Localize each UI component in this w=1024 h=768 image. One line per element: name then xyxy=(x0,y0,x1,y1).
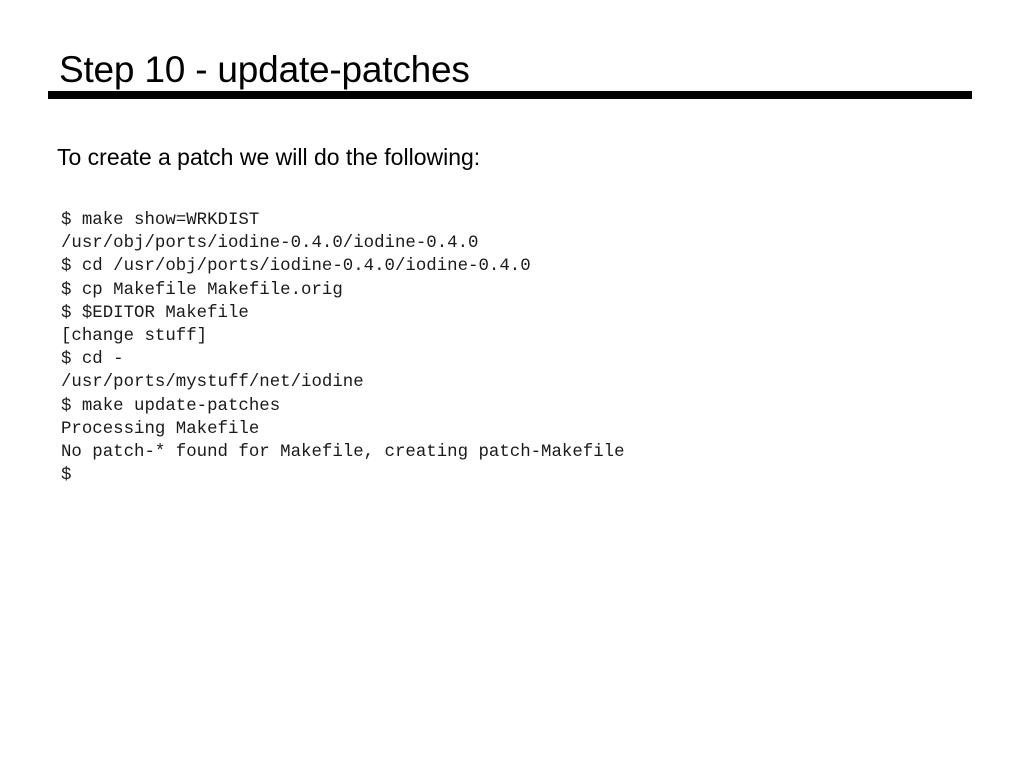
title-divider xyxy=(48,91,972,99)
terminal-line: $ cp Makefile Makefile.orig xyxy=(61,279,625,302)
terminal-line: [change stuff] xyxy=(61,325,625,348)
terminal-line: /usr/obj/ports/iodine-0.4.0/iodine-0.4.0 xyxy=(61,232,625,255)
terminal-line: $ cd - xyxy=(61,348,625,371)
terminal-line: /usr/ports/mystuff/net/iodine xyxy=(61,371,625,394)
page-title: Step 10 - update-patches xyxy=(59,48,470,92)
terminal-line: $ make update-patches xyxy=(61,395,625,418)
terminal-line: $ cd /usr/obj/ports/iodine-0.4.0/iodine-… xyxy=(61,255,625,278)
terminal-line: Processing Makefile xyxy=(61,418,625,441)
terminal-line: $ make show=WRKDIST xyxy=(61,209,625,232)
slide: Step 10 - update-patches To create a pat… xyxy=(0,0,1024,768)
terminal-line: No patch-* found for Makefile, creating … xyxy=(61,441,625,464)
terminal-line: $ $EDITOR Makefile xyxy=(61,302,625,325)
terminal-transcript: $ make show=WRKDIST/usr/obj/ports/iodine… xyxy=(61,209,625,487)
terminal-line: $ xyxy=(61,464,625,487)
slide-subtitle: To create a patch we will do the followi… xyxy=(57,142,480,172)
